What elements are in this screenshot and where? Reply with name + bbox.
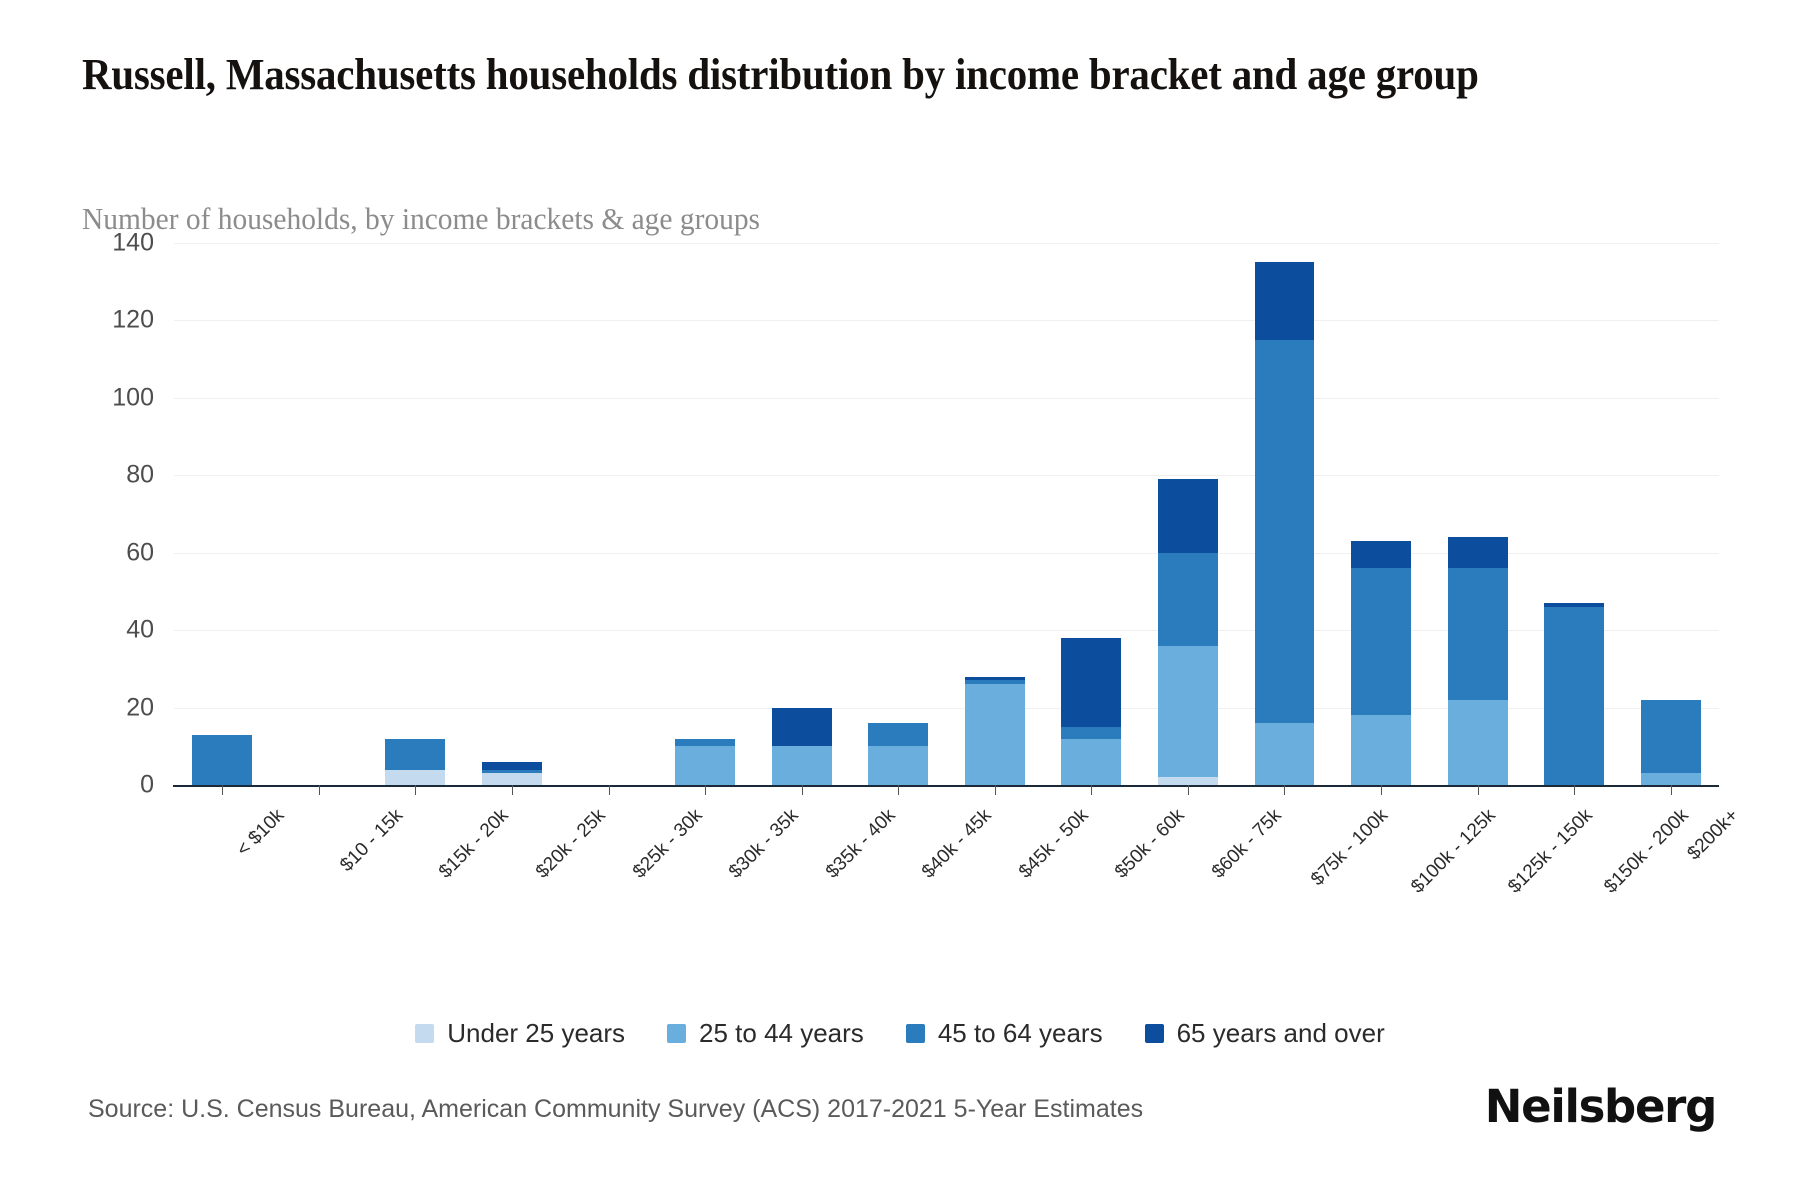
- chart-subtitle: Number of households, by income brackets…: [82, 200, 1412, 237]
- y-axis-tick-label: 120: [62, 306, 154, 335]
- legend-label: 45 to 64 years: [938, 1018, 1103, 1049]
- legend-item[interactable]: 65 years and over: [1145, 1018, 1385, 1049]
- x-axis-tick: [898, 785, 899, 795]
- bar-segment[interactable]: [1061, 727, 1121, 739]
- bar-segment[interactable]: [1255, 262, 1315, 339]
- bar-segment[interactable]: [675, 746, 735, 785]
- y-axis-tick-label: 100: [62, 383, 154, 412]
- x-axis-tick-label: $125k - 150k: [1504, 805, 1597, 898]
- chart-legend: Under 25 years25 to 44 years45 to 64 yea…: [0, 1018, 1800, 1049]
- source-note: Source: U.S. Census Bureau, American Com…: [88, 1095, 1143, 1124]
- x-axis-tick: [1574, 785, 1575, 795]
- x-axis-tick-label: $15k - 20k: [435, 805, 513, 883]
- x-axis-tick-label: $20k - 25k: [532, 805, 610, 883]
- bar-stack[interactable]: [1641, 700, 1701, 785]
- y-axis-tick-label: 40: [62, 616, 154, 645]
- x-axis-tick-label: $150k - 200k: [1600, 805, 1693, 898]
- bar-segment[interactable]: [1061, 739, 1121, 785]
- x-axis-tick: [1671, 785, 1672, 795]
- x-axis-tick-label: $40k - 45k: [918, 805, 996, 883]
- x-axis-tick-label: $45k - 50k: [1015, 805, 1093, 883]
- y-axis-tick-label: 20: [62, 693, 154, 722]
- x-axis-tick-label: $200k+: [1683, 805, 1743, 865]
- legend-label: 65 years and over: [1177, 1018, 1385, 1049]
- bar-segment[interactable]: [1158, 646, 1218, 778]
- bar-stack[interactable]: [192, 735, 252, 785]
- x-axis-tick-label: $60k - 75k: [1208, 805, 1286, 883]
- x-axis-tick: [802, 785, 803, 795]
- x-axis-tick-label: $10 - 15k: [336, 805, 408, 877]
- bar-segment[interactable]: [1448, 700, 1508, 785]
- bar-stack[interactable]: [1158, 479, 1218, 785]
- bar-segment[interactable]: [868, 746, 928, 785]
- bar-stack[interactable]: [1255, 262, 1315, 785]
- x-axis-tick: [705, 785, 706, 795]
- x-axis-tick: [995, 785, 996, 795]
- x-axis-tick: [319, 785, 320, 795]
- x-axis-tick: [1091, 785, 1092, 795]
- bar-segment[interactable]: [1448, 568, 1508, 700]
- x-axis-tick-label: $75k - 100k: [1308, 805, 1394, 891]
- legend-swatch-icon: [415, 1024, 434, 1043]
- bar-segment[interactable]: [965, 684, 1025, 785]
- bar-segment[interactable]: [482, 762, 542, 770]
- x-axis-tick: [1284, 785, 1285, 795]
- bar-segment[interactable]: [675, 739, 735, 747]
- bar-stack[interactable]: [1351, 541, 1411, 785]
- x-axis-tick: [415, 785, 416, 795]
- bar-segment[interactable]: [1351, 541, 1411, 568]
- page-title: Russell, Massachusetts households distri…: [82, 48, 1589, 102]
- y-axis-tick-label: 60: [62, 538, 154, 567]
- x-axis-tick: [222, 785, 223, 795]
- bar-segment[interactable]: [482, 773, 542, 785]
- bar-segment[interactable]: [192, 735, 252, 785]
- bar-stack[interactable]: [675, 739, 735, 785]
- bar-segment[interactable]: [385, 770, 445, 785]
- x-axis-tick-label: $35k - 40k: [822, 805, 900, 883]
- x-axis-tick-label: < $10k: [233, 805, 289, 861]
- bar-stack[interactable]: [1448, 537, 1508, 785]
- bar-segment[interactable]: [1641, 700, 1701, 774]
- bar-segment[interactable]: [1544, 607, 1604, 785]
- legend-swatch-icon: [906, 1024, 925, 1043]
- bar-segment[interactable]: [385, 739, 445, 770]
- bar-stack[interactable]: [965, 677, 1025, 785]
- x-axis-tick-label: $25k - 30k: [629, 805, 707, 883]
- bar-segment[interactable]: [1158, 777, 1218, 785]
- legend-item[interactable]: Under 25 years: [415, 1018, 625, 1049]
- bar-stack[interactable]: [1061, 638, 1121, 785]
- bar-stack[interactable]: [482, 762, 542, 785]
- legend-item[interactable]: 25 to 44 years: [667, 1018, 864, 1049]
- x-axis-tick: [512, 785, 513, 795]
- bar-stack[interactable]: [772, 708, 832, 785]
- x-axis-tick: [1188, 785, 1189, 795]
- bar-segment[interactable]: [1641, 773, 1701, 785]
- legend-swatch-icon: [667, 1024, 686, 1043]
- x-axis-tick: [609, 785, 610, 795]
- x-axis-tick-label: $30k - 35k: [725, 805, 803, 883]
- legend-label: Under 25 years: [447, 1018, 625, 1049]
- bar-segment[interactable]: [1158, 553, 1218, 646]
- bar-segment[interactable]: [868, 723, 928, 746]
- legend-label: 25 to 44 years: [699, 1018, 864, 1049]
- x-axis-tick-label: $100k - 125k: [1407, 805, 1500, 898]
- bar-segment[interactable]: [1255, 723, 1315, 785]
- bar-stack[interactable]: [1544, 603, 1604, 785]
- y-axis-tick-label: 80: [62, 461, 154, 490]
- x-axis-tick: [1478, 785, 1479, 795]
- bar-series-group: [174, 243, 1719, 785]
- plot-area: 020406080100120140 < $10k$10 - 15k$15k -…: [174, 243, 1719, 785]
- legend-item[interactable]: 45 to 64 years: [906, 1018, 1103, 1049]
- bar-segment[interactable]: [1158, 479, 1218, 553]
- bar-segment[interactable]: [1351, 715, 1411, 785]
- bar-segment[interactable]: [1061, 638, 1121, 727]
- bar-segment[interactable]: [772, 746, 832, 785]
- x-axis-line: [173, 785, 1719, 787]
- bar-segment[interactable]: [772, 708, 832, 747]
- bar-segment[interactable]: [1351, 568, 1411, 715]
- x-axis-tick: [1381, 785, 1382, 795]
- y-axis-tick-label: 0: [62, 771, 154, 800]
- y-axis-tick-label: 140: [62, 229, 154, 258]
- bar-stack[interactable]: [385, 739, 445, 785]
- bar-segment[interactable]: [1448, 537, 1508, 568]
- chart-page: Russell, Massachusetts households distri…: [0, 0, 1800, 1200]
- legend-swatch-icon: [1145, 1024, 1164, 1043]
- bar-segment[interactable]: [1255, 340, 1315, 723]
- brand-logo: Neilsberg: [1485, 1080, 1716, 1133]
- x-axis-tick-label: $50k - 60k: [1111, 805, 1189, 883]
- bar-stack[interactable]: [868, 723, 928, 785]
